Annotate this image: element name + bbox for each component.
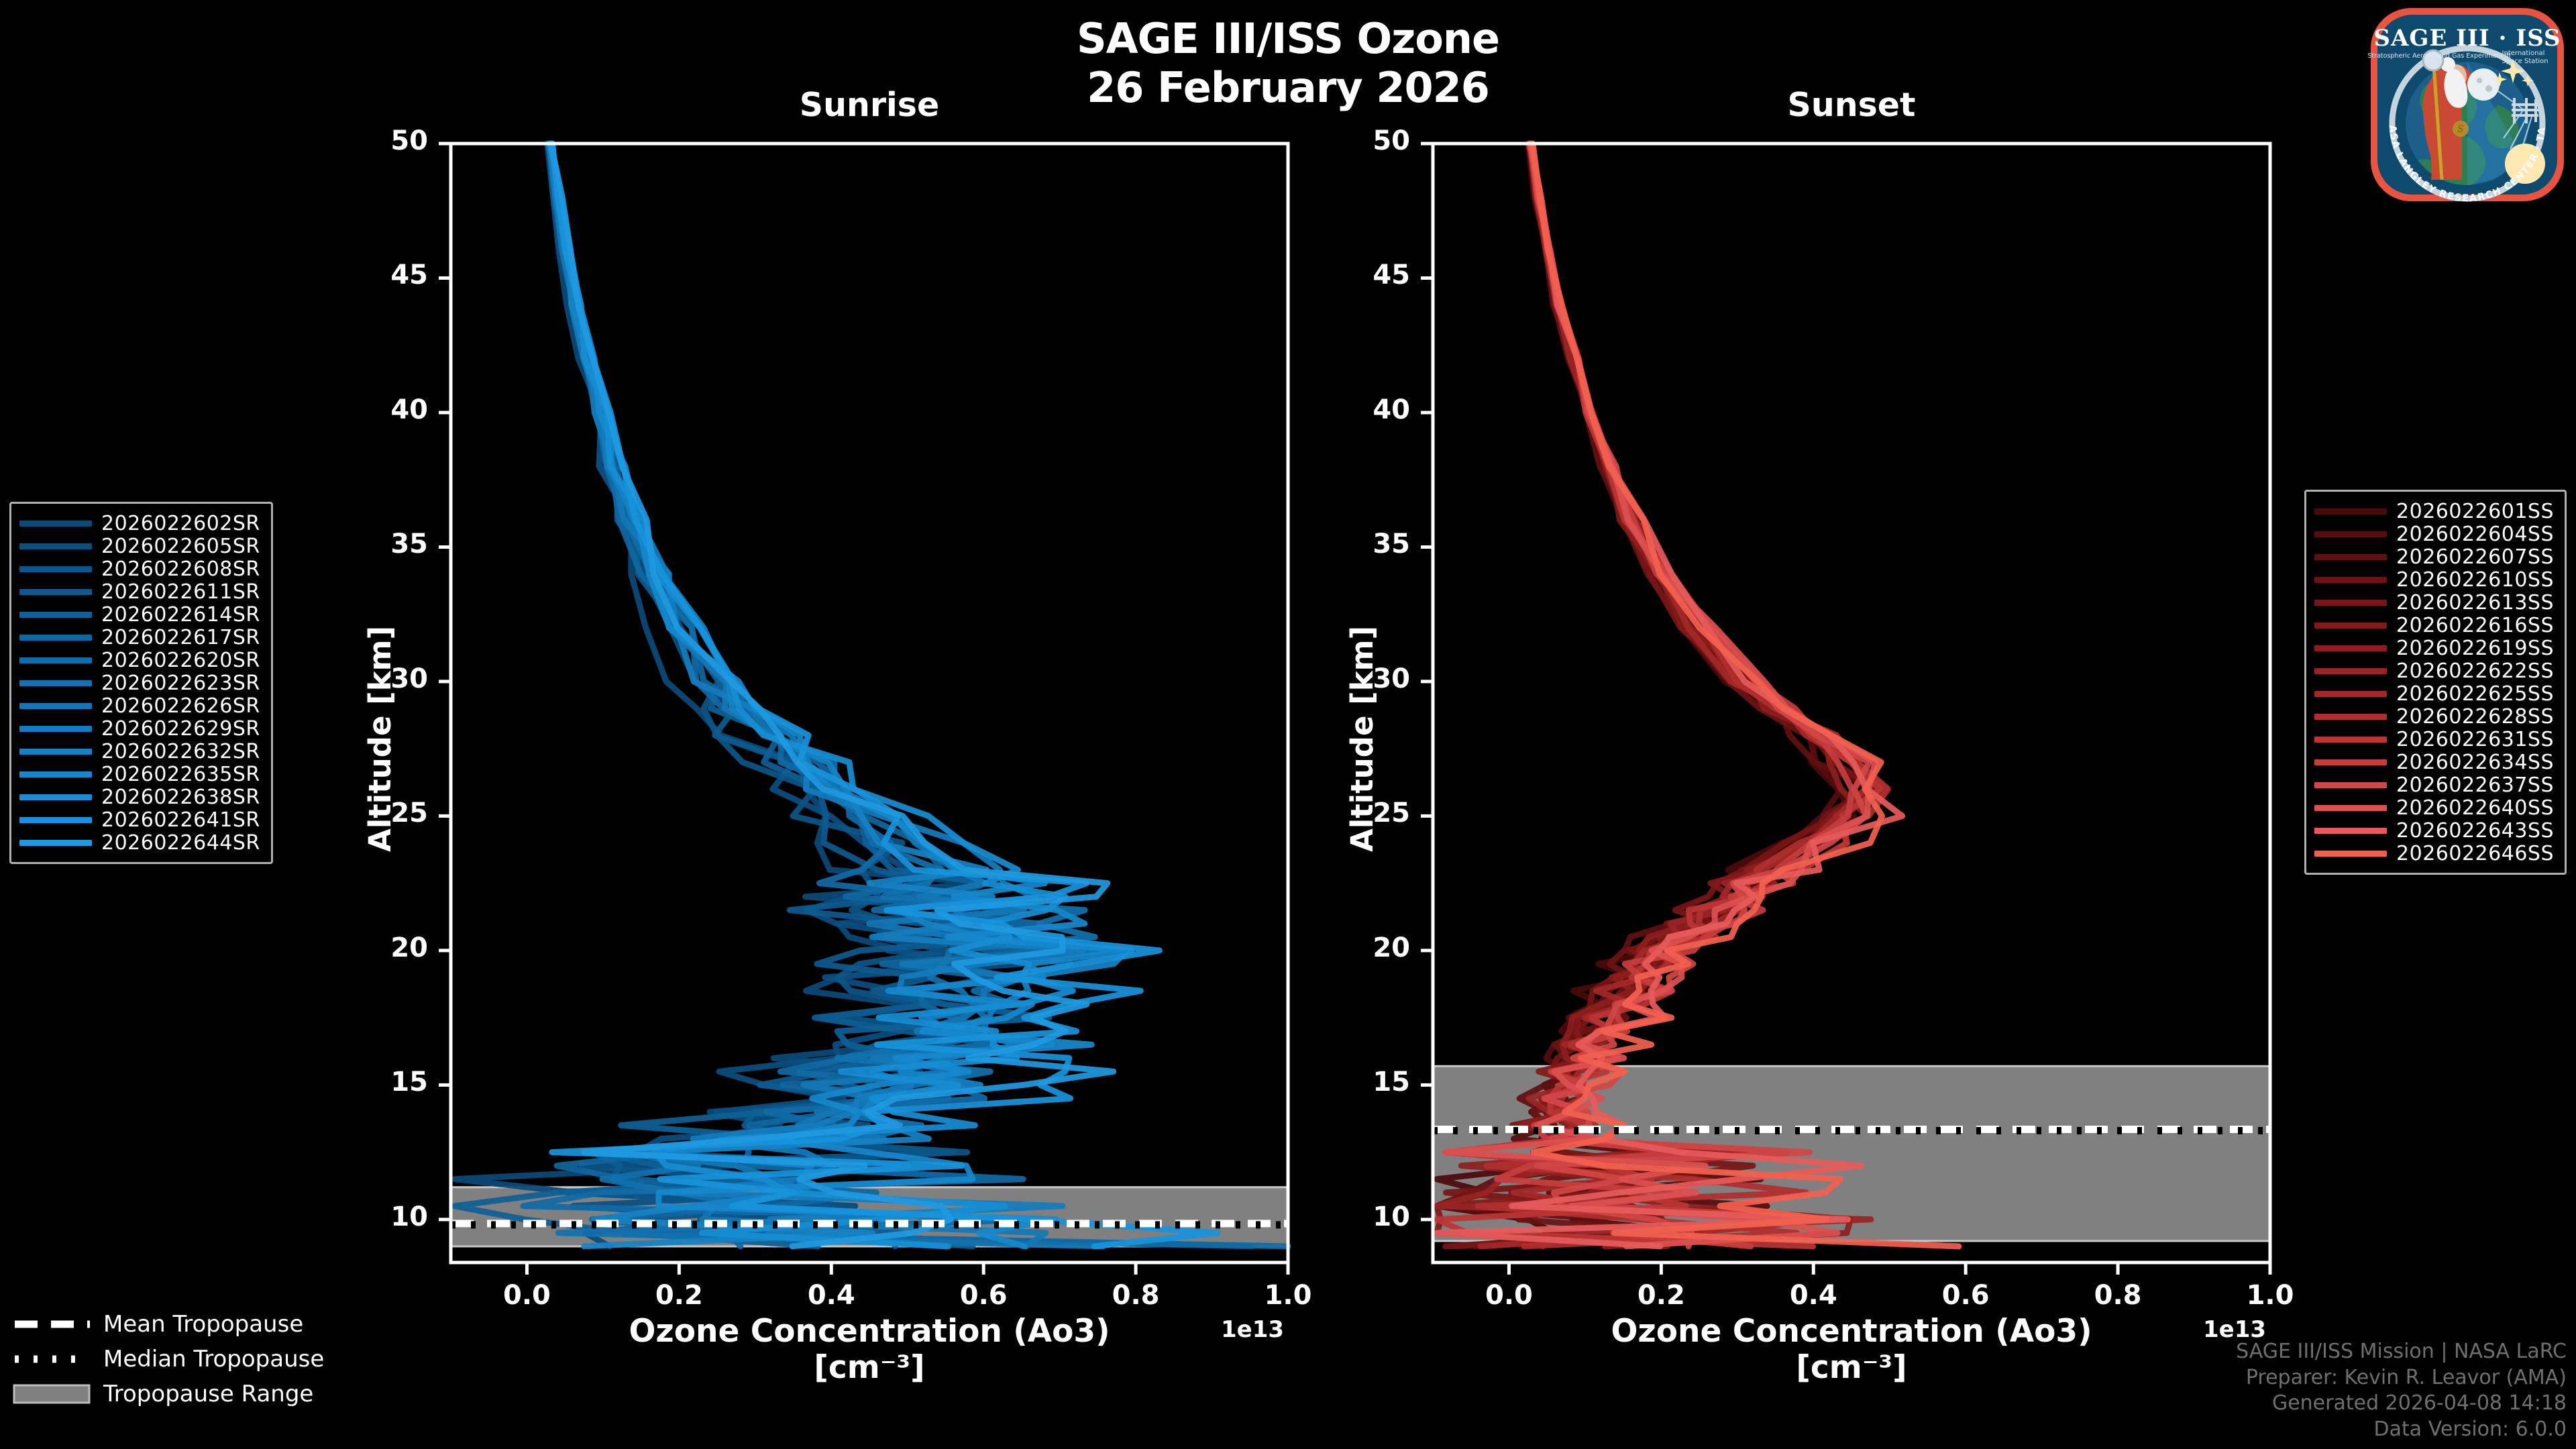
- svg-text:S: S: [2457, 124, 2464, 135]
- legend-color-swatch: [2314, 737, 2387, 743]
- legend-item[interactable]: 2026022601SS: [2314, 500, 2554, 523]
- yaxis-tick-label: 35: [354, 529, 428, 559]
- legend-event-label: 2026022616SS: [2396, 614, 2554, 637]
- legend-event-label: 2026022643SS: [2396, 819, 2554, 843]
- legend-item[interactable]: 2026022616SS: [2314, 614, 2554, 637]
- legend-item[interactable]: 2026022625SS: [2314, 682, 2554, 705]
- legend-item[interactable]: 2026022644SR: [19, 831, 260, 854]
- xaxis-tick-label: 0.8: [1082, 1280, 1189, 1311]
- legend-event-label: 2026022635SR: [101, 763, 260, 786]
- yaxis-label-sunset: Altitude [km]: [1344, 626, 1380, 852]
- legend-event-label: 2026022641SR: [101, 808, 260, 832]
- legend-item[interactable]: 2026022605SR: [19, 535, 260, 557]
- legend-event-label: 2026022611SR: [101, 580, 260, 604]
- legend-event-label: 2026022637SS: [2396, 773, 2554, 797]
- legend-event-label: 2026022610SS: [2396, 568, 2554, 592]
- legend-color-swatch: [2314, 851, 2387, 857]
- legend-event-label: 2026022628SS: [2396, 705, 2554, 729]
- profile-line: [455, 144, 1071, 1246]
- legend-label-mean: Mean Tropopause: [103, 1311, 303, 1338]
- range-swatch-icon: [12, 1387, 93, 1401]
- legend-label-range: Tropopause Range: [103, 1381, 313, 1407]
- legend-event-label: 2026022604SS: [2396, 523, 2554, 546]
- xaxis-exponent-sunrise: 1e13: [1221, 1316, 1284, 1343]
- legend-event-label: 2026022608SR: [101, 557, 260, 581]
- legend-item[interactable]: 2026022629SR: [19, 717, 260, 740]
- xaxis-label-sunset: Ozone Concentration (Ao3) [cm⁻³]: [1433, 1313, 2270, 1386]
- legend-item[interactable]: 2026022640SS: [2314, 796, 2554, 819]
- legend-item[interactable]: 2026022602SR: [19, 512, 260, 535]
- legend-color-swatch: [19, 612, 92, 618]
- legend-label-median: Median Tropopause: [103, 1346, 324, 1373]
- legend-item[interactable]: 2026022608SR: [19, 557, 260, 580]
- legend-item[interactable]: 2026022607SS: [2314, 545, 2554, 568]
- logo-subtitle-right-1: International: [2502, 50, 2545, 57]
- legend-color-swatch: [2314, 600, 2387, 606]
- logo-subtitle-left: Stratospheric Aerosol and Gas Experiment…: [2367, 52, 2510, 60]
- legend-item[interactable]: 2026022620SR: [19, 649, 260, 672]
- legend-color-swatch: [2314, 805, 2387, 811]
- xaxis-tick-label: 0.0: [1455, 1280, 1562, 1311]
- legend-item[interactable]: 2026022646SS: [2314, 842, 2554, 865]
- legend-event-label: 2026022646SS: [2396, 842, 2554, 865]
- svg-text:Stratospheric Aerosol and Gas: Stratospheric Aerosol and Gas Experiment…: [2367, 52, 2510, 60]
- legend-item[interactable]: 2026022617SR: [19, 626, 260, 649]
- legend-sunrise[interactable]: 2026022602SR2026022605SR2026022608SR2026…: [9, 502, 273, 864]
- legend-item[interactable]: 2026022638SR: [19, 786, 260, 808]
- legend-event-label: 2026022620SR: [101, 649, 260, 672]
- yaxis-tick-label: 10: [354, 1201, 428, 1232]
- legend-color-swatch: [2314, 577, 2387, 583]
- dotted-line-icon: [12, 1352, 93, 1366]
- xaxis-tick-label: 1.0: [2216, 1280, 2324, 1311]
- legend-item[interactable]: 2026022613SS: [2314, 591, 2554, 614]
- tropopause-legend: Mean Tropopause Median Tropopause Tropop…: [12, 1307, 324, 1411]
- legend-item[interactable]: 2026022614SR: [19, 603, 260, 626]
- legend-color-swatch: [2314, 759, 2387, 765]
- legend-color-swatch: [2314, 645, 2387, 651]
- xaxis-tick-label: 0.8: [2064, 1280, 2171, 1311]
- legend-color-swatch: [19, 794, 92, 800]
- legend-event-label: 2026022634SS: [2396, 751, 2554, 774]
- legend-color-swatch: [19, 749, 92, 755]
- legend-item[interactable]: 2026022641SR: [19, 808, 260, 831]
- metadata-generated: Generated 2026-04-08 14:18: [2236, 1391, 2567, 1416]
- legend-color-swatch: [2314, 782, 2387, 788]
- yaxis-tick-label: 40: [354, 394, 428, 425]
- yaxis-tick-label: 10: [1336, 1201, 1410, 1232]
- xaxis-label-line1: Ozone Concentration (Ao3): [451, 1313, 1288, 1350]
- legend-item[interactable]: 2026022628SS: [2314, 705, 2554, 728]
- legend-event-label: 2026022607SS: [2396, 545, 2554, 569]
- xaxis-label-line2: [cm⁻³]: [451, 1350, 1288, 1386]
- logo-title: SAGE III · ISS: [2373, 25, 2561, 52]
- legend-color-swatch: [19, 635, 92, 641]
- xaxis-tick-label: 0.2: [1607, 1280, 1715, 1311]
- legend-event-label: 2026022638SR: [101, 786, 260, 809]
- legend-event-label: 2026022644SR: [101, 831, 260, 855]
- yaxis-tick-label: 40: [1336, 394, 1410, 425]
- xaxis-label-sunrise: Ozone Concentration (Ao3) [cm⁻³]: [451, 1313, 1288, 1386]
- metadata-preparer: Preparer: Kevin R. Leavor (AMA): [2236, 1365, 2567, 1391]
- legend-color-swatch: [2314, 623, 2387, 629]
- legend-event-label: 2026022613SS: [2396, 591, 2554, 614]
- legend-event-label: 2026022605SR: [101, 535, 260, 558]
- yaxis-label-sunrise: Altitude [km]: [362, 626, 398, 852]
- legend-item[interactable]: 2026022619SS: [2314, 637, 2554, 659]
- legend-event-label: 2026022614SR: [101, 603, 260, 627]
- legend-event-label: 2026022619SS: [2396, 637, 2554, 660]
- yaxis-tick-label: 50: [1336, 125, 1410, 156]
- xaxis-tick-label: 0.6: [930, 1280, 1037, 1311]
- legend-item[interactable]: 2026022632SR: [19, 740, 260, 763]
- legend-event-label: 2026022601SS: [2396, 500, 2554, 523]
- legend-color-swatch: [19, 680, 92, 686]
- yaxis-tick-label: 35: [1336, 529, 1410, 559]
- profile-line: [549, 144, 1083, 1246]
- yaxis-tick-label: 15: [1336, 1067, 1410, 1097]
- xaxis-tick-label: 0.4: [777, 1280, 885, 1311]
- legend-color-swatch: [19, 817, 92, 823]
- legend-item[interactable]: 2026022623SR: [19, 672, 260, 694]
- legend-color-swatch: [19, 771, 92, 777]
- yaxis-tick-label: 50: [354, 125, 428, 156]
- legend-item[interactable]: 2026022626SR: [19, 694, 260, 717]
- legend-item[interactable]: 2026022631SS: [2314, 728, 2554, 751]
- svg-text:SAGE III · ISS: SAGE III · ISS: [2373, 25, 2561, 52]
- legend-event-label: 2026022602SR: [101, 512, 260, 535]
- metadata-data-version: Data Version: 6.0.0: [2236, 1417, 2567, 1442]
- legend-color-swatch: [2314, 554, 2387, 560]
- yaxis-tick-label: 20: [354, 932, 428, 963]
- legend-item[interactable]: 2026022604SS: [2314, 523, 2554, 545]
- legend-event-label: 2026022629SR: [101, 717, 260, 741]
- dashed-line-icon: [12, 1317, 93, 1332]
- legend-color-swatch: [19, 703, 92, 709]
- legend-event-label: 2026022640SS: [2396, 796, 2554, 820]
- legend-event-label: 2026022625SS: [2396, 682, 2554, 706]
- legend-event-label: 2026022622SS: [2396, 659, 2554, 683]
- legend-color-swatch: [19, 521, 92, 527]
- legend-color-swatch: [2314, 531, 2387, 537]
- legend-color-swatch: [19, 543, 92, 549]
- legend-item-median-tropopause: Median Tropopause: [12, 1342, 324, 1377]
- legend-event-label: 2026022631SS: [2396, 728, 2554, 751]
- legend-color-swatch: [2314, 714, 2387, 720]
- yaxis-tick-label: 15: [354, 1067, 428, 1097]
- legend-event-label: 2026022617SR: [101, 626, 260, 649]
- yaxis-tick-label: 45: [354, 260, 428, 290]
- xaxis-label-line2: [cm⁻³]: [1433, 1350, 2270, 1386]
- legend-event-label: 2026022623SR: [101, 672, 260, 695]
- legend-item[interactable]: 2026022637SS: [2314, 773, 2554, 796]
- legend-color-swatch: [19, 657, 92, 663]
- yaxis-tick-label: 45: [1336, 260, 1410, 290]
- legend-item[interactable]: 2026022622SS: [2314, 659, 2554, 682]
- legend-color-swatch: [2314, 508, 2387, 515]
- sage-iii-iss-mission-patch-logo: S SAGE III · ISS Stratospheric Aerosol a…: [2367, 4, 2568, 205]
- legend-event-label: 2026022632SR: [101, 740, 260, 763]
- xaxis-tick-label: 0.4: [1760, 1280, 1867, 1311]
- metadata-block: SAGE III/ISS Mission | NASA LaRC Prepare…: [2236, 1339, 2567, 1442]
- legend-item-mean-tropopause: Mean Tropopause: [12, 1307, 324, 1342]
- legend-item[interactable]: 2026022635SR: [19, 763, 260, 786]
- legend-color-swatch: [2314, 828, 2387, 834]
- legend-color-swatch: [19, 589, 92, 595]
- legend-sunset[interactable]: 2026022601SS2026022604SS2026022607SS2026…: [2304, 490, 2567, 875]
- legend-color-swatch: [2314, 691, 2387, 697]
- legend-item[interactable]: 2026022611SR: [19, 580, 260, 603]
- legend-color-swatch: [19, 726, 92, 732]
- xaxis-tick-label: 0.2: [625, 1280, 733, 1311]
- legend-color-swatch: [19, 566, 92, 572]
- legend-item[interactable]: 2026022634SS: [2314, 751, 2554, 773]
- xaxis-tick-label: 1.0: [1234, 1280, 1342, 1311]
- xaxis-tick-label: 0.6: [1912, 1280, 2019, 1311]
- legend-color-swatch: [19, 840, 92, 846]
- xaxis-tick-label: 0.0: [473, 1280, 580, 1311]
- legend-item[interactable]: 2026022643SS: [2314, 819, 2554, 842]
- xaxis-label-line1: Ozone Concentration (Ao3): [1433, 1313, 2270, 1350]
- logo-subtitle-right-2: Space Station: [2502, 58, 2548, 65]
- legend-item-tropopause-range: Tropopause Range: [12, 1377, 324, 1411]
- legend-item[interactable]: 2026022610SS: [2314, 568, 2554, 591]
- metadata-mission: SAGE III/ISS Mission | NASA LaRC: [2236, 1339, 2567, 1364]
- legend-color-swatch: [2314, 668, 2387, 674]
- legend-event-label: 2026022626SR: [101, 694, 260, 718]
- yaxis-tick-label: 20: [1336, 932, 1410, 963]
